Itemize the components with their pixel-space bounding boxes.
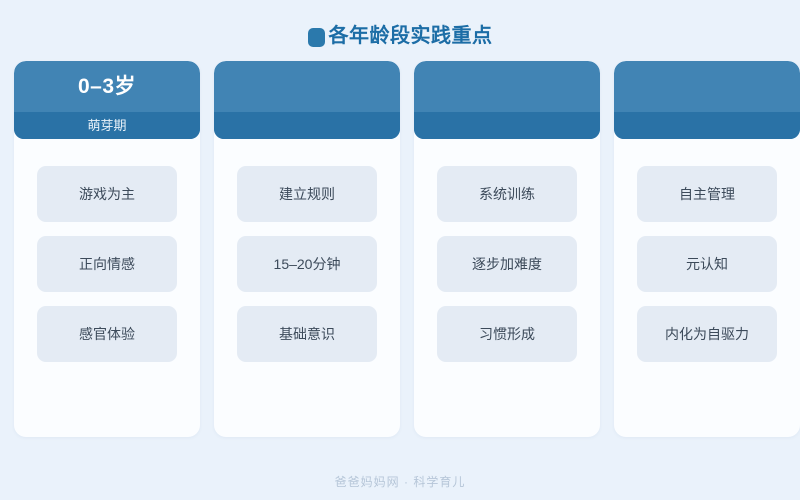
card-header-title: 0–3岁 [14,61,200,112]
card-header-subtitle [414,112,600,139]
age-stage-card-grid: 0–3岁 萌芽期 游戏为主 正向情感 感官体验 建立规则 15–20分钟 基础意… [14,61,800,437]
list-item[interactable]: 15–20分钟 [237,236,377,292]
card-header [614,61,800,139]
age-stage-card[interactable]: 系统训练 逐步加难度 习惯形成 [414,61,600,437]
page-title: 各年龄段实践重点 [0,20,800,52]
list-item[interactable]: 元认知 [637,236,777,292]
card-pill-list: 系统训练 逐步加难度 习惯形成 [414,139,600,362]
page-title-text: 各年龄段实践重点 [329,26,493,46]
card-header [214,61,400,139]
card-header-subtitle [614,112,800,139]
list-item[interactable]: 内化为自驱力 [637,306,777,362]
card-header-subtitle: 萌芽期 [14,112,200,139]
list-item[interactable]: 基础意识 [237,306,377,362]
footer-text: 爸爸妈妈网 · 科学育儿 [335,476,466,488]
age-stage-card[interactable]: 自主管理 元认知 内化为自驱力 [614,61,800,437]
list-item[interactable]: 正向情感 [37,236,177,292]
list-item[interactable]: 自主管理 [637,166,777,222]
list-item[interactable]: 习惯形成 [437,306,577,362]
age-stage-card[interactable]: 0–3岁 萌芽期 游戏为主 正向情感 感官体验 [14,61,200,437]
card-pill-list: 建立规则 15–20分钟 基础意识 [214,139,400,362]
card-header-title [614,61,800,112]
footer: 爸爸妈妈网 · 科学育儿 [0,472,800,492]
list-item[interactable]: 建立规则 [237,166,377,222]
card-header-title [414,61,600,112]
age-stage-card[interactable]: 建立规则 15–20分钟 基础意识 [214,61,400,437]
card-pill-list: 自主管理 元认知 内化为自驱力 [614,139,800,362]
card-header-subtitle [214,112,400,139]
card-header-title [214,61,400,112]
list-item[interactable]: 逐步加难度 [437,236,577,292]
list-item[interactable]: 系统训练 [437,166,577,222]
card-header [414,61,600,139]
list-item[interactable]: 感官体验 [37,306,177,362]
rounded-square-icon [308,28,325,47]
list-item[interactable]: 游戏为主 [37,166,177,222]
card-pill-list: 游戏为主 正向情感 感官体验 [14,139,200,362]
card-header: 0–3岁 萌芽期 [14,61,200,139]
